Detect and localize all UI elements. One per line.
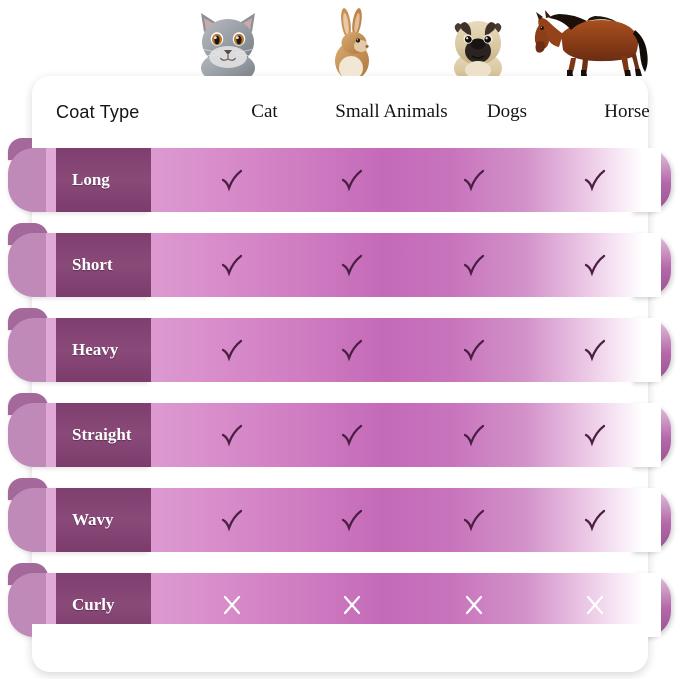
table-row[interactable]: Straight — [0, 403, 679, 467]
rabbit-photo — [331, 6, 377, 80]
cat-photo — [192, 8, 264, 80]
row-label: Straight — [56, 425, 132, 445]
check-icon — [320, 488, 384, 552]
row-label-cell: Long — [56, 148, 151, 212]
check-icon — [563, 488, 627, 552]
row-label-cell: Short — [56, 233, 151, 297]
row-label-cell: Heavy — [56, 318, 151, 382]
check-icon — [200, 403, 264, 467]
check-icon — [563, 318, 627, 382]
check-icon — [563, 233, 627, 297]
check-icon — [563, 148, 627, 212]
check-icon — [320, 318, 384, 382]
row-label: Long — [56, 170, 110, 190]
table-header: Coat Type Cat Small Animals Dogs Horse — [32, 76, 648, 148]
row-label: Short — [56, 255, 113, 275]
check-icon — [320, 148, 384, 212]
check-icon — [442, 488, 506, 552]
check-icon — [442, 148, 506, 212]
check-icon — [200, 318, 264, 382]
table-row[interactable]: Wavy — [0, 488, 679, 552]
check-icon — [320, 403, 384, 467]
check-icon — [200, 233, 264, 297]
check-icon — [442, 233, 506, 297]
column-header-dogs: Dogs — [447, 76, 567, 148]
row-label-cell: Straight — [56, 403, 151, 467]
check-icon — [320, 233, 384, 297]
column-header-coat-type: Coat Type — [56, 76, 206, 148]
check-icon — [200, 488, 264, 552]
animal-photo-strip — [0, 0, 679, 80]
card-footer-pad — [32, 624, 648, 672]
dog-photo — [448, 10, 508, 80]
row-label: Wavy — [56, 510, 114, 530]
check-icon — [442, 403, 506, 467]
column-header-horse: Horse — [557, 76, 679, 148]
table-row[interactable]: Heavy — [0, 318, 679, 382]
check-icon — [442, 318, 506, 382]
row-label: Heavy — [56, 340, 118, 360]
row-label: Curly — [56, 595, 115, 615]
table-row[interactable]: Long — [0, 148, 679, 212]
check-icon — [200, 148, 264, 212]
table-row[interactable]: Short — [0, 233, 679, 297]
check-icon — [563, 403, 627, 467]
horse-photo — [525, 4, 653, 76]
row-label-cell: Wavy — [56, 488, 151, 552]
